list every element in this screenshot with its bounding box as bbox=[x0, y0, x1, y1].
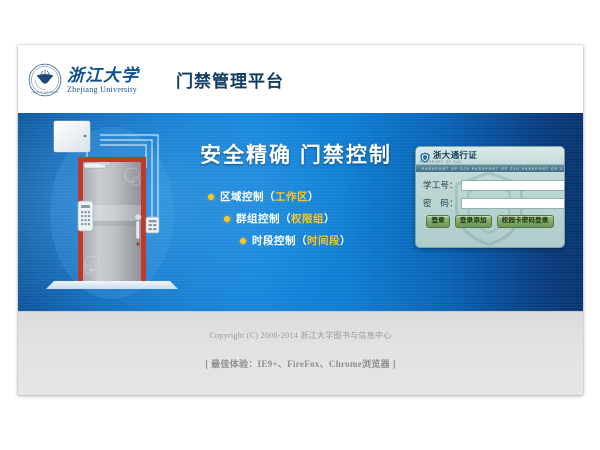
feature-label-highlight: 时间段 bbox=[307, 235, 340, 247]
username-input[interactable] bbox=[461, 180, 565, 191]
svg-text:ZHEJIANG UNIVERSITY: ZHEJIANG UNIVERSITY bbox=[31, 91, 59, 94]
logo-text-cn: 浙江大学 bbox=[67, 67, 139, 84]
banner-feature-list: 区域控制（工作区） 群组控制（权限组） 时段控制（时间段） bbox=[208, 189, 408, 255]
login-form: 学工号： 密 码： 登录 登录添加 校园卡密码登录 bbox=[416, 172, 564, 228]
login-panel-title: 浙大通行证 bbox=[433, 151, 477, 160]
feature-item-group-control: 群组控制（权限组） bbox=[208, 211, 408, 226]
login-panel-stripe-text: PASSPORT OF ZJU PASSPORT OF ZJU PASSPORT… bbox=[416, 167, 564, 171]
footer-copyright: Copyright (C) 2008-2014 浙江大学图书与信息中心 bbox=[18, 330, 583, 341]
login-panel-stripe: PASSPORT OF ZJU PASSPORT OF ZJU PASSPORT… bbox=[416, 165, 564, 172]
login-panel: 浙大通行证 PASSPORT OF ZJU PASSPORT OF ZJU PA… bbox=[415, 146, 565, 248]
feature-label-main: 区域控制（ bbox=[220, 191, 275, 203]
username-row: 学工号： bbox=[423, 179, 557, 191]
feature-label-tail: ） bbox=[308, 191, 319, 203]
password-row: 密 码： bbox=[423, 197, 557, 209]
bullet-dot-icon bbox=[224, 216, 230, 222]
campus-card-login-button[interactable]: 校园卡密码登录 bbox=[497, 215, 554, 228]
feature-label-highlight: 权限组 bbox=[291, 213, 324, 225]
page-title: 门禁管理平台 bbox=[176, 67, 284, 92]
hero-banner: 安全精确 门禁控制 区域控制（工作区） 群组控制（权限组） 时段控制（时间段） bbox=[18, 113, 583, 311]
page-footer: Copyright (C) 2008-2014 浙江大学图书与信息中心 [ 最佳… bbox=[18, 311, 583, 395]
bullet-dot-icon bbox=[240, 238, 246, 244]
logo-text-en: Zhejiang University bbox=[67, 86, 139, 94]
zju-seal-icon: ZHEJIANG UNIVERSITY bbox=[28, 63, 62, 97]
password-label: 密 码： bbox=[423, 197, 461, 209]
login-panel-titlebar: 浙大通行证 PASSPORT OF ZJU bbox=[416, 147, 564, 165]
feature-label-main: 群组控制（ bbox=[236, 213, 291, 225]
bullet-dot-icon bbox=[208, 194, 214, 200]
feature-item-area-control: 区域控制（工作区） bbox=[208, 189, 408, 204]
feature-item-time-control: 时段控制（时间段） bbox=[208, 233, 408, 248]
username-label: 学工号： bbox=[423, 179, 461, 191]
feature-label-tail: ） bbox=[324, 213, 335, 225]
password-input[interactable] bbox=[461, 198, 565, 209]
login-panel-title-en: PASSPORT OF ZJU bbox=[420, 160, 462, 164]
feature-label-tail: ） bbox=[340, 235, 351, 247]
login-button[interactable]: 登录 bbox=[426, 215, 449, 228]
login-button-group: 登录 登录添加 校园卡密码登录 bbox=[423, 215, 557, 228]
page-header: ZHEJIANG UNIVERSITY 浙江大学 Zhejiang Univer… bbox=[18, 45, 583, 113]
login-add-button[interactable]: 登录添加 bbox=[455, 215, 492, 228]
footer-browser-support: [ 最佳体验：IE9+、FireFox、Chrome浏览器 ] bbox=[18, 357, 583, 370]
door-access-control-illustration bbox=[40, 113, 190, 311]
feature-label-highlight: 工作区 bbox=[275, 191, 308, 203]
university-logo[interactable]: ZHEJIANG UNIVERSITY 浙江大学 Zhejiang Univer… bbox=[28, 63, 139, 97]
banner-headline: 安全精确 门禁控制 bbox=[200, 139, 392, 169]
feature-label-main: 时段控制（ bbox=[252, 235, 307, 247]
app-page: ZHEJIANG UNIVERSITY 浙江大学 Zhejiang Univer… bbox=[18, 45, 583, 395]
